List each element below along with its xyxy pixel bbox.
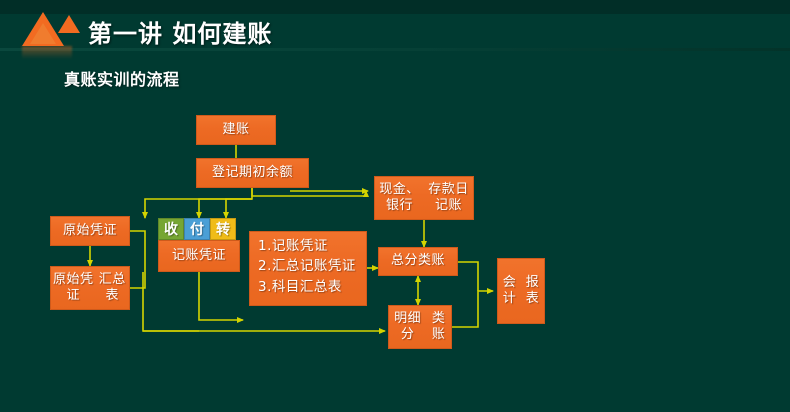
flow-node-yuanshihz[interactable]: 原始凭证汇总表 [50,266,130,310]
flow-node-label: 存款日记账 [424,182,473,215]
flow-node-zhengshu-list[interactable]: 1.记账凭证2.汇总记账凭证3.科目汇总表 [249,231,367,306]
list-item: 2.汇总记账凭证 [258,256,358,276]
connector-line [458,262,478,291]
flow-node-label: 现金、银行 [375,182,424,215]
flow-node-label: 报表 [521,275,544,308]
flow-node-label: 原始凭证 [51,272,96,305]
flow-node-mingxi[interactable]: 明细分类账 [388,305,452,349]
tab-zhuan[interactable]: 转 [210,218,236,240]
flow-node-label: 建账 [222,122,249,138]
flow-node-zongfenlei[interactable]: 总分类账 [378,247,458,276]
flow-node-kuaiji[interactable]: 会计报表 [497,258,545,324]
flow-node-label: 会计 [498,275,521,308]
list-item: 1.记账凭证 [258,236,358,256]
list-item: 3.科目汇总表 [258,277,358,297]
flow-node-qichu[interactable]: 登记期初余额 [196,158,309,188]
voucher-type-tabs: 收付转 [158,218,236,240]
flow-node-label: 原始凭证 [63,223,117,239]
tab-shou[interactable]: 收 [158,218,184,240]
flow-node-jianzhang[interactable]: 建账 [196,115,276,145]
flow-node-xianjin[interactable]: 现金、银行存款日记账 [374,176,474,220]
flow-node-label: 类账 [426,311,451,344]
connector-line [226,199,252,218]
flow-node-label: 总分类账 [391,253,445,269]
connector-line [143,272,199,331]
connector-line [252,188,366,196]
flow-node-jizhang[interactable]: 记账凭证 [158,240,240,272]
flow-node-label: 汇总表 [96,272,129,305]
connector-line [452,291,493,327]
tab-fu[interactable]: 付 [184,218,210,240]
connector-line [199,272,243,320]
flow-node-yuanshi[interactable]: 原始凭证 [50,216,130,246]
flow-node-label: 登记期初余额 [212,165,293,181]
accounting-workflow-flowchart: 建账登记期初余额原始凭证原始凭证汇总表记账凭证现金、银行存款日记账总分类账明细分… [0,0,790,412]
flow-node-label: 明细分 [389,311,426,344]
flow-node-label: 记账凭证 [172,248,226,264]
slide-canvas: 第一讲 如何建账 真账实训的流程 建账登记期初余额原始凭证原始凭证汇总表记账凭证… [0,0,790,412]
